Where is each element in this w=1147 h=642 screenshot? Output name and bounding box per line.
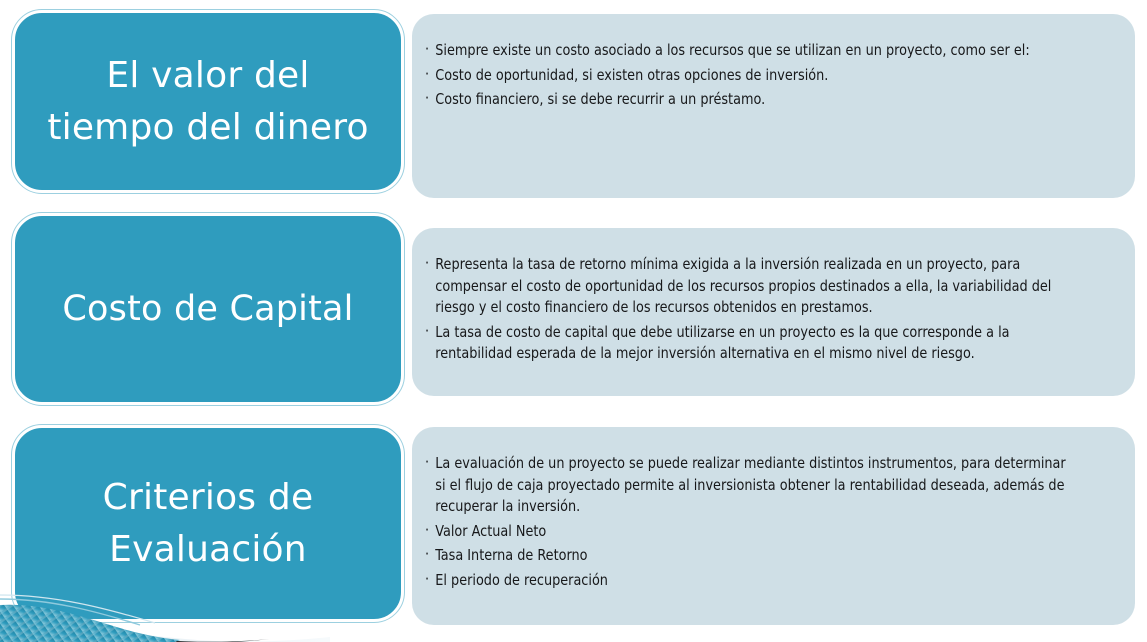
list-item: Valor Actual Neto bbox=[424, 521, 1068, 543]
bullet-list-2: Representa la tasa de retorno mínima exi… bbox=[424, 254, 1109, 365]
info-panel-1[interactable]: Siempre existe un costo asociado a los r… bbox=[412, 14, 1135, 198]
list-item: Representa la tasa de retorno mínima exi… bbox=[424, 254, 1068, 319]
bullet-list-3: La evaluación de un proyecto se puede re… bbox=[424, 453, 1109, 591]
list-item: Tasa Interna de Retorno bbox=[424, 545, 1068, 567]
list-item: Costo financiero, si se debe recurrir a … bbox=[424, 89, 1068, 111]
info-panel-3[interactable]: La evaluación de un proyecto se puede re… bbox=[412, 427, 1135, 625]
heading-label-3: Criterios de Evaluación bbox=[93, 472, 324, 576]
heading-box-1[interactable]: El valor del tiempo del dinero bbox=[12, 10, 404, 193]
heading-label-2: Costo de Capital bbox=[52, 283, 363, 335]
list-item: El periodo de recuperación bbox=[424, 570, 1068, 592]
list-item: La evaluación de un proyecto se puede re… bbox=[424, 453, 1068, 518]
content-row-2: Costo de Capital Representa la tasa de r… bbox=[0, 210, 1147, 420]
content-row-3: Criterios de Evaluación La evaluación de… bbox=[0, 422, 1147, 632]
heading-box-2[interactable]: Costo de Capital bbox=[12, 213, 404, 405]
list-item: La tasa de costo de capital que debe uti… bbox=[424, 322, 1068, 365]
bullet-list-1: Siempre existe un costo asociado a los r… bbox=[424, 40, 1109, 111]
slide-canvas: El valor del tiempo del dinero Siempre e… bbox=[0, 0, 1147, 642]
list-item: Costo de oportunidad, si existen otras o… bbox=[424, 65, 1068, 87]
info-panel-2[interactable]: Representa la tasa de retorno mínima exi… bbox=[412, 228, 1135, 396]
content-row-1: El valor del tiempo del dinero Siempre e… bbox=[0, 0, 1147, 205]
heading-box-3[interactable]: Criterios de Evaluación bbox=[12, 425, 404, 622]
list-item: Siempre existe un costo asociado a los r… bbox=[424, 40, 1068, 62]
heading-label-1: El valor del tiempo del dinero bbox=[37, 50, 378, 154]
